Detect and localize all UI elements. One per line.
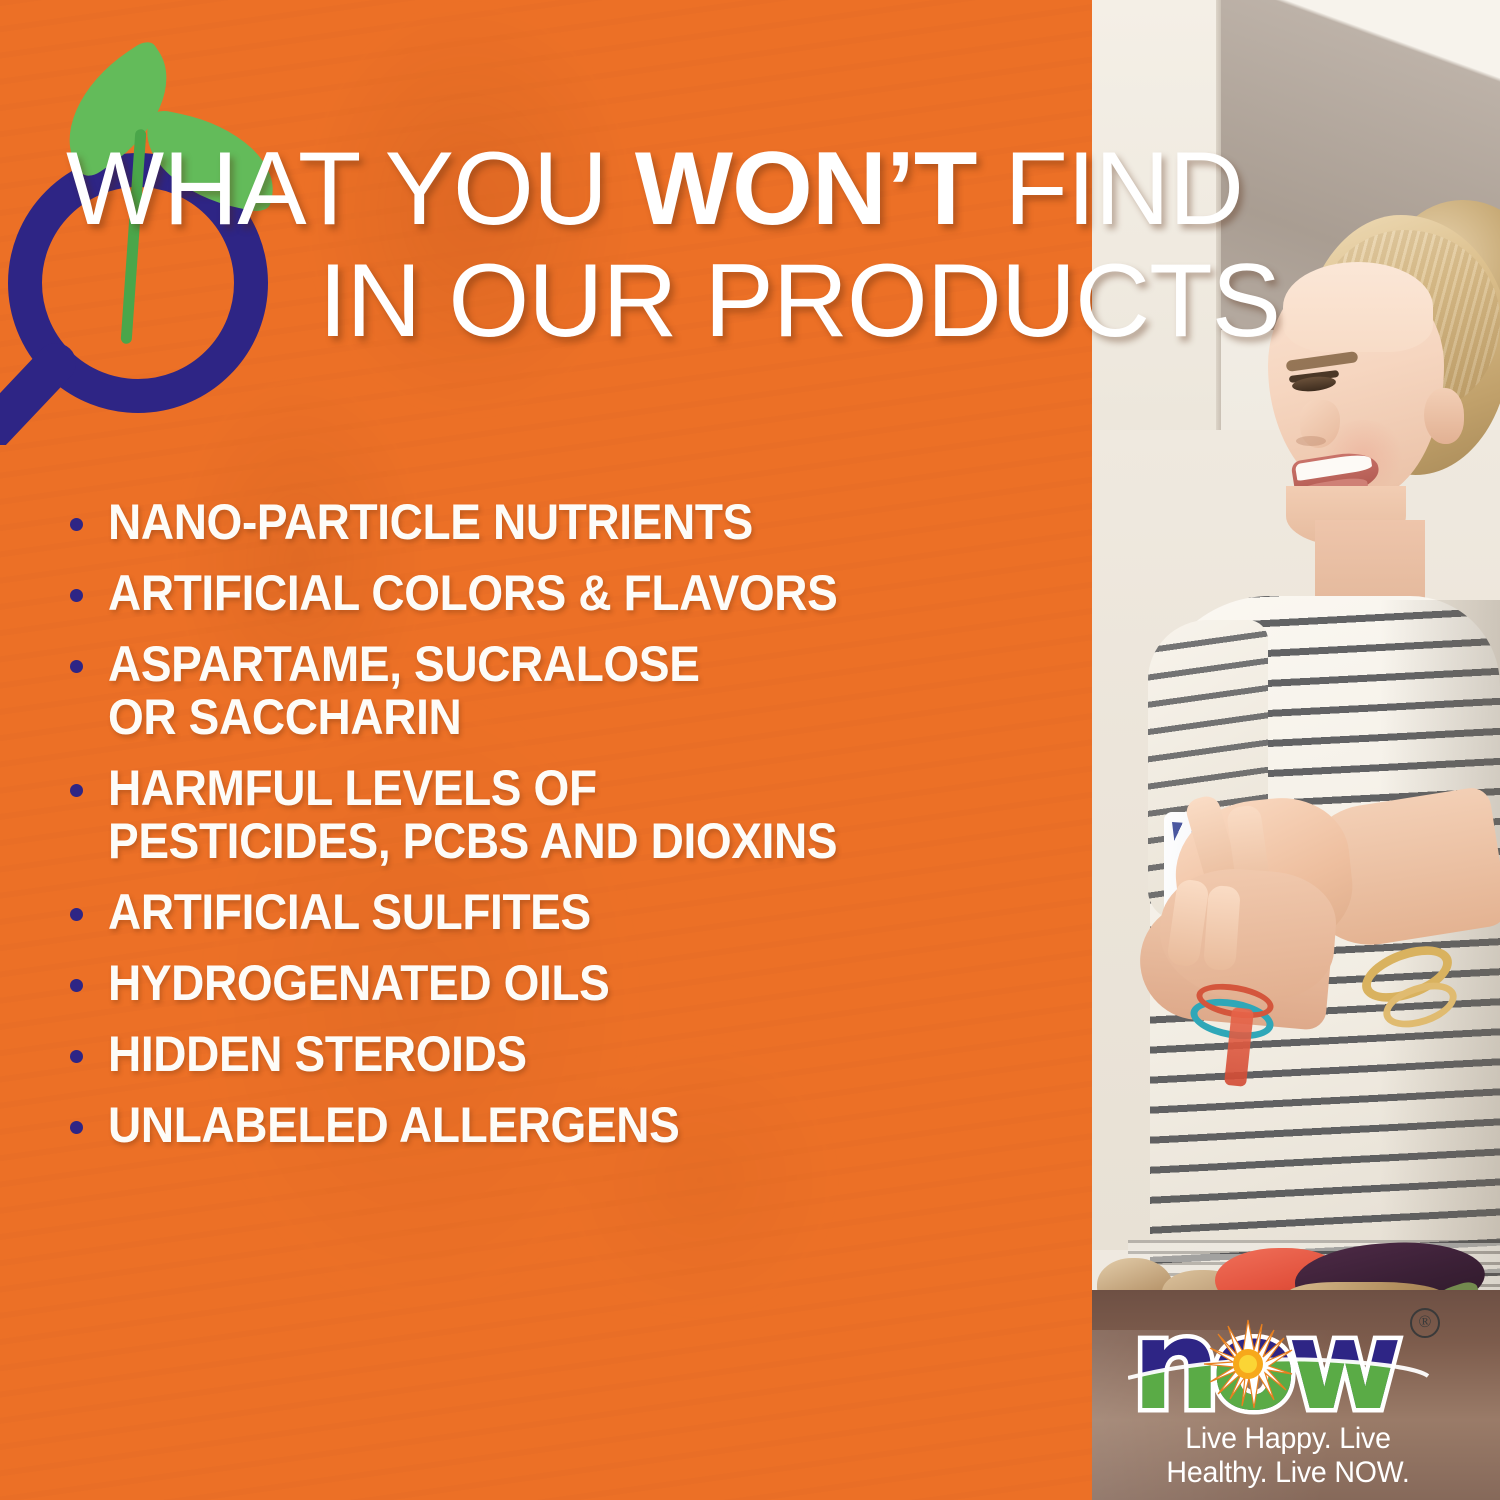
list-item: ASPARTAME, SUCRALOSEOR SACCHARIN	[70, 638, 1080, 744]
exclusion-list: NANO-PARTICLE NUTRIENTS ARTIFICIAL COLOR…	[70, 496, 1080, 1170]
promotional-poster: WHAT YOU WON’T FIND IN OUR PRODUCTS NANO…	[0, 0, 1500, 1500]
bullet-dot-icon	[70, 979, 83, 992]
list-item: NANO-PARTICLE NUTRIENTS	[70, 496, 1080, 549]
list-item: HIDDEN STEROIDS	[70, 1028, 1080, 1081]
magnifying-glass-with-leaves-icon	[0, 55, 300, 445]
list-item-label: ARTIFICIAL SULFITES	[108, 886, 591, 939]
finger	[1203, 885, 1241, 971]
registered-trademark-icon: ®	[1410, 1308, 1440, 1338]
list-item: UNLABELED ALLERGENS	[70, 1099, 1080, 1152]
bullet-dot-icon	[70, 1121, 83, 1134]
bullet-dot-icon	[70, 1050, 83, 1063]
ear	[1424, 388, 1464, 444]
now-brand-logo: now now ® Live Happy. Live Healthy. Live…	[1128, 1304, 1444, 1464]
list-item: HYDROGENATED OILS	[70, 957, 1080, 1010]
headline-line1-part3: FIND	[976, 131, 1243, 247]
list-item: HARMFUL LEVELS OFPESTICIDES, PCBS AND DI…	[70, 762, 1080, 868]
forehead	[1283, 262, 1433, 352]
bullet-dot-icon	[70, 660, 83, 673]
headline-line1-part1: WHAT YOU	[66, 131, 635, 247]
sun-center-inner	[1239, 1355, 1257, 1373]
now-wordmark-svg: now now	[1128, 1304, 1444, 1424]
brand-tagline: Live Happy. Live Healthy. Live NOW.	[1131, 1422, 1445, 1490]
list-item: ARTIFICIAL COLORS & FLAVORS	[70, 567, 1080, 620]
headline-line-2: IN OUR PRODUCTS	[0, 252, 1280, 352]
headline-line-1: WHAT YOU WON’T FIND	[66, 140, 1243, 240]
list-item-label: ARTIFICIAL COLORS & FLAVORS	[108, 567, 837, 620]
list-item-label: HIDDEN STEROIDS	[108, 1028, 527, 1081]
list-item-label: ASPARTAME, SUCRALOSEOR SACCHARIN	[108, 638, 700, 744]
list-item-label: UNLABELED ALLERGENS	[108, 1099, 679, 1152]
bullet-dot-icon	[70, 908, 83, 921]
bullet-dot-icon	[70, 589, 83, 602]
now-wordmark-letters: now now	[1128, 1304, 1428, 1424]
bullet-dot-icon	[70, 784, 83, 797]
list-item-label: HARMFUL LEVELS OFPESTICIDES, PCBS AND DI…	[108, 762, 837, 868]
list-item: ARTIFICIAL SULFITES	[70, 886, 1080, 939]
bullet-dot-icon	[70, 518, 83, 531]
list-item-label: NANO-PARTICLE NUTRIENTS	[108, 496, 753, 549]
list-item-label: HYDROGENATED OILS	[108, 957, 609, 1010]
headline-emphasis-wont: WON’T	[635, 131, 977, 247]
